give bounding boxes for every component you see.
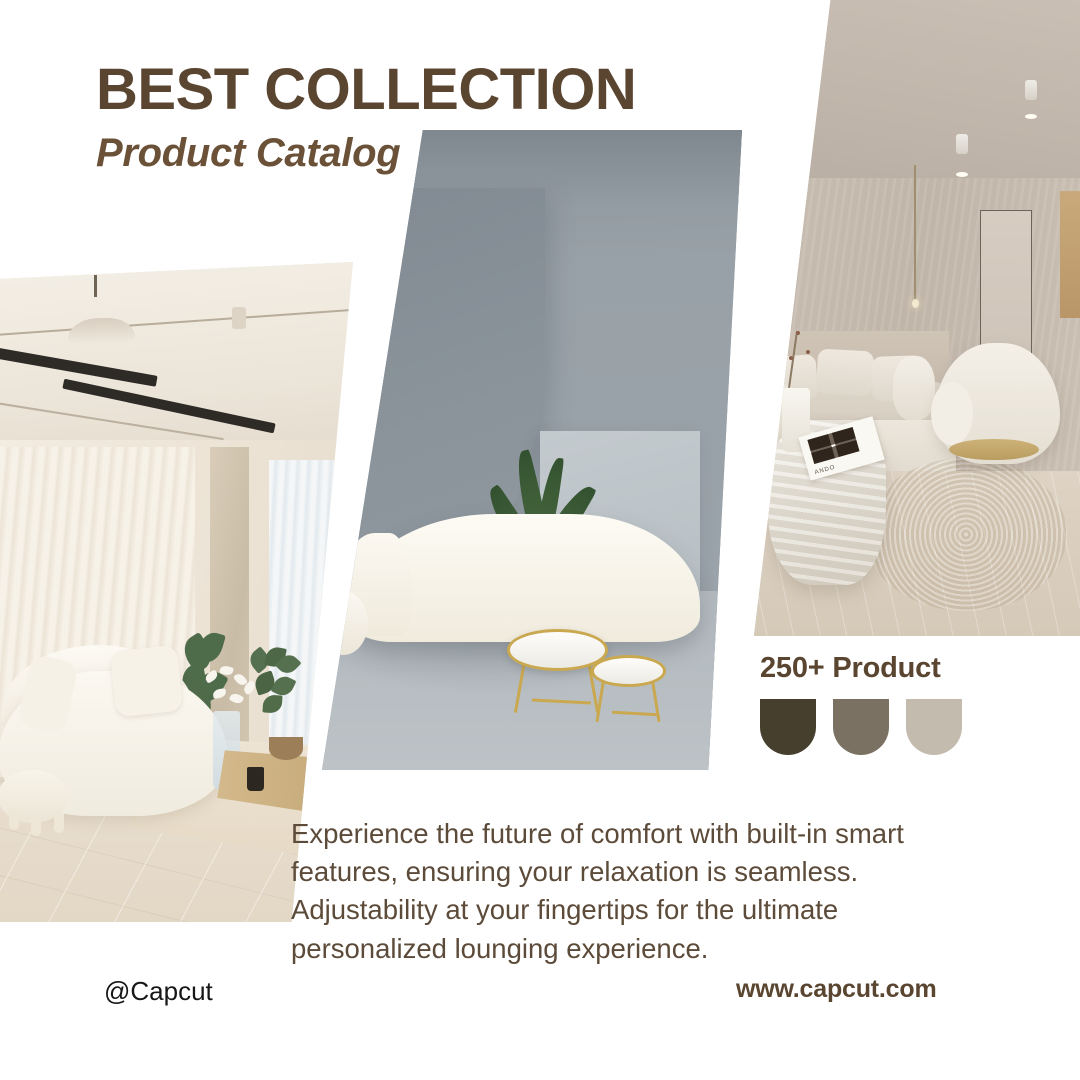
color-swatch-taupe[interactable] <box>833 699 889 755</box>
grey-studio-scene <box>322 130 742 770</box>
ceiling-spotlight-2 <box>1025 80 1037 100</box>
gallery-image-grey-studio[interactable] <box>322 130 742 770</box>
color-swatch-list <box>760 699 962 755</box>
twig-berry-2 <box>806 350 810 354</box>
pillow-2 <box>815 348 873 395</box>
book-cover-grid <box>807 427 859 464</box>
pendant-cord <box>914 165 916 305</box>
page-subtitle: Product Catalog <box>96 131 636 176</box>
chair-arm <box>931 382 973 446</box>
cushion-right <box>110 645 183 718</box>
spotlight <box>232 307 246 329</box>
poster-canvas: BEST COLLECTION Product Catalog <box>0 0 1080 1080</box>
page-title: BEST COLLECTION <box>96 60 636 119</box>
wall-art <box>1060 191 1080 318</box>
stool-leg-2 <box>31 816 41 836</box>
bedroom-scene: ANDO <box>740 0 1080 636</box>
gallery-image-bedroom[interactable]: ANDO <box>740 0 1080 636</box>
ceramic-stool <box>893 356 935 420</box>
twig-berry-3 <box>789 356 793 360</box>
website-link[interactable]: www.capcut.com <box>736 975 936 1004</box>
description-text: Experience the future of comfort with bu… <box>291 815 963 968</box>
marble-side-table <box>591 655 667 687</box>
color-swatch-light-greige[interactable] <box>906 699 962 755</box>
product-count-label: 250+ Product <box>760 652 962 685</box>
social-handle[interactable]: @Capcut <box>104 976 213 1007</box>
color-swatch-dark-olive[interactable] <box>760 699 816 755</box>
pendant-bulb <box>912 299 919 308</box>
product-stats-block: 250+ Product <box>760 652 962 755</box>
twig-berry-1 <box>796 331 800 335</box>
ceiling-spotlight-1 <box>956 134 968 154</box>
pendant-rod <box>94 275 97 297</box>
jute-round-rug <box>865 458 1067 611</box>
heading-block: BEST COLLECTION Product Catalog <box>96 60 636 176</box>
wooden-bowl <box>269 737 302 759</box>
stool-leg-3 <box>54 813 64 833</box>
black-pot <box>247 767 264 791</box>
spotlight-glow-1 <box>956 172 968 177</box>
stool-leg-1 <box>9 810 19 830</box>
